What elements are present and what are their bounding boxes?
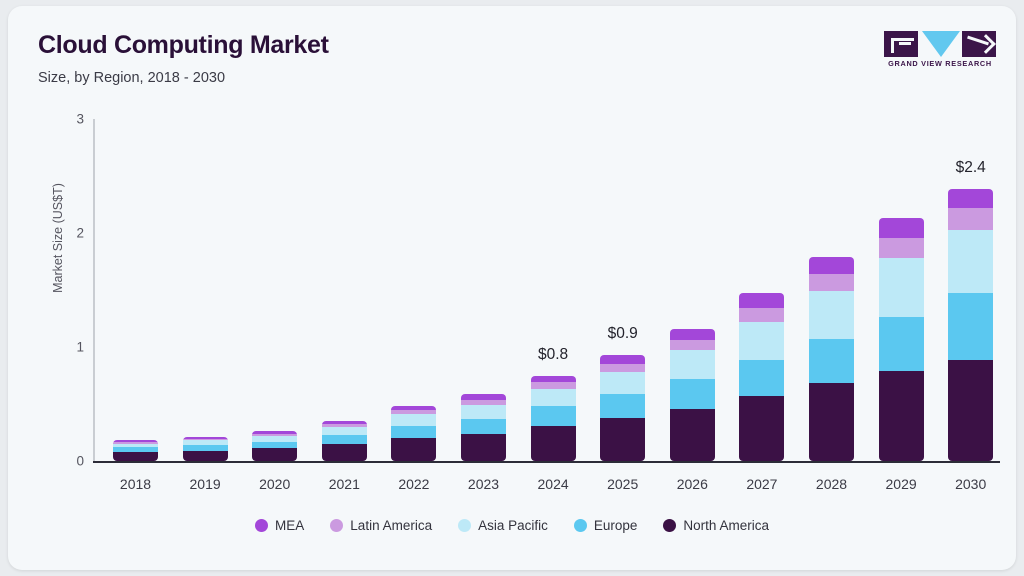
bar-segment-north-america[interactable]	[531, 426, 576, 461]
bar-2025[interactable]	[600, 355, 645, 461]
bar-segment-asia-pacific[interactable]	[391, 414, 436, 425]
bar-2022[interactable]	[391, 406, 436, 461]
bar-segment-latin-america[interactable]	[739, 308, 784, 322]
legend-swatch-icon	[458, 519, 471, 532]
bar-segment-asia-pacific[interactable]	[531, 389, 576, 406]
bar-segment-europe[interactable]	[670, 379, 715, 409]
bar-segment-north-america[interactable]	[391, 438, 436, 461]
bar-value-label-2025: $0.9	[583, 325, 663, 343]
bar-segment-europe[interactable]	[461, 419, 506, 434]
legend-item-mea[interactable]: MEA	[255, 518, 304, 533]
bar-2029[interactable]	[879, 218, 924, 461]
x-tick-2028: 2028	[797, 476, 867, 492]
bar-2027[interactable]	[739, 293, 784, 461]
bar-segment-north-america[interactable]	[461, 434, 506, 461]
y-tick-3: 3	[56, 112, 84, 127]
bar-segment-asia-pacific[interactable]	[461, 405, 506, 419]
x-tick-2025: 2025	[588, 476, 658, 492]
bar-segment-north-america[interactable]	[252, 448, 297, 461]
stacked-bar-chart: Market Size (US$T) 0123 $0.8$0.9$2.4 201…	[8, 6, 1016, 570]
bar-segment-latin-america[interactable]	[948, 208, 993, 230]
bar-segment-mea[interactable]	[670, 329, 715, 340]
legend-label: Latin America	[350, 518, 432, 533]
bar-segment-europe[interactable]	[252, 442, 297, 449]
bar-segment-north-america[interactable]	[600, 418, 645, 461]
bar-segment-asia-pacific[interactable]	[670, 350, 715, 378]
bar-segment-mea[interactable]	[879, 218, 924, 237]
legend-label: North America	[683, 518, 769, 533]
bar-segment-europe[interactable]	[809, 339, 854, 383]
bar-segment-asia-pacific[interactable]	[948, 230, 993, 294]
chart-card: Cloud Computing Market Size, by Region, …	[8, 6, 1016, 570]
legend-label: MEA	[275, 518, 304, 533]
x-tick-2024: 2024	[518, 476, 588, 492]
bar-2030[interactable]	[948, 189, 993, 461]
bar-2026[interactable]	[670, 329, 715, 461]
bar-segment-europe[interactable]	[600, 394, 645, 418]
bar-segment-latin-america[interactable]	[531, 382, 576, 389]
bar-segment-north-america[interactable]	[739, 396, 784, 461]
x-tick-2019: 2019	[170, 476, 240, 492]
bar-segment-north-america[interactable]	[113, 452, 158, 461]
bar-value-label-2030: $2.4	[931, 159, 1011, 177]
x-tick-2027: 2027	[727, 476, 797, 492]
bar-segment-asia-pacific[interactable]	[879, 258, 924, 317]
y-tick-2: 2	[56, 226, 84, 241]
bar-segment-north-america[interactable]	[670, 409, 715, 461]
bar-2024[interactable]	[531, 376, 576, 462]
x-tick-2030: 2030	[936, 476, 1006, 492]
x-tick-2026: 2026	[657, 476, 727, 492]
bar-2020[interactable]	[252, 431, 297, 461]
bar-2023[interactable]	[461, 394, 506, 461]
bar-2018[interactable]	[113, 440, 158, 461]
bar-segment-latin-america[interactable]	[879, 238, 924, 259]
x-tick-2022: 2022	[379, 476, 449, 492]
y-tick-0: 0	[56, 454, 84, 469]
bar-segment-latin-america[interactable]	[600, 364, 645, 372]
x-tick-2029: 2029	[866, 476, 936, 492]
bar-segment-north-america[interactable]	[322, 444, 367, 461]
chart-legend: MEALatin AmericaAsia PacificEuropeNorth …	[8, 518, 1016, 533]
x-tick-2021: 2021	[309, 476, 379, 492]
bar-segment-asia-pacific[interactable]	[322, 427, 367, 435]
bar-segment-mea[interactable]	[531, 376, 576, 383]
bar-segment-europe[interactable]	[739, 360, 784, 396]
bar-segment-mea[interactable]	[739, 293, 784, 308]
legend-label: Asia Pacific	[478, 518, 548, 533]
bar-segment-europe[interactable]	[391, 426, 436, 439]
legend-swatch-icon	[330, 519, 343, 532]
bar-segment-mea[interactable]	[948, 189, 993, 208]
bar-segment-north-america[interactable]	[809, 383, 854, 461]
x-tick-2020: 2020	[240, 476, 310, 492]
legend-swatch-icon	[574, 519, 587, 532]
bar-segment-europe[interactable]	[322, 435, 367, 444]
bar-2028[interactable]	[809, 257, 854, 461]
legend-swatch-icon	[663, 519, 676, 532]
bar-segment-latin-america[interactable]	[670, 340, 715, 350]
x-axis-line	[93, 461, 1000, 463]
bar-2019[interactable]	[183, 437, 228, 462]
legend-label: Europe	[594, 518, 638, 533]
bar-segment-north-america[interactable]	[948, 360, 993, 461]
bar-value-label-2024: $0.8	[513, 346, 593, 364]
bar-segment-europe[interactable]	[531, 406, 576, 425]
bar-segment-asia-pacific[interactable]	[809, 291, 854, 339]
legend-item-asia-pacific[interactable]: Asia Pacific	[458, 518, 548, 533]
bar-segment-mea[interactable]	[600, 355, 645, 364]
x-tick-2018: 2018	[101, 476, 171, 492]
bar-2021[interactable]	[322, 421, 367, 461]
legend-item-north-america[interactable]: North America	[663, 518, 769, 533]
bar-segment-europe[interactable]	[879, 317, 924, 371]
legend-item-latin-america[interactable]: Latin America	[330, 518, 432, 533]
legend-swatch-icon	[255, 519, 268, 532]
bar-segment-asia-pacific[interactable]	[600, 372, 645, 394]
bar-segment-north-america[interactable]	[183, 451, 228, 461]
bar-segment-north-america[interactable]	[879, 371, 924, 461]
bar-segment-europe[interactable]	[948, 293, 993, 359]
bar-segment-latin-america[interactable]	[809, 274, 854, 291]
legend-item-europe[interactable]: Europe	[574, 518, 638, 533]
y-axis-line	[93, 119, 95, 461]
bar-segment-mea[interactable]	[809, 257, 854, 274]
y-tick-1: 1	[56, 340, 84, 355]
x-tick-2023: 2023	[449, 476, 519, 492]
bar-segment-asia-pacific[interactable]	[739, 322, 784, 360]
